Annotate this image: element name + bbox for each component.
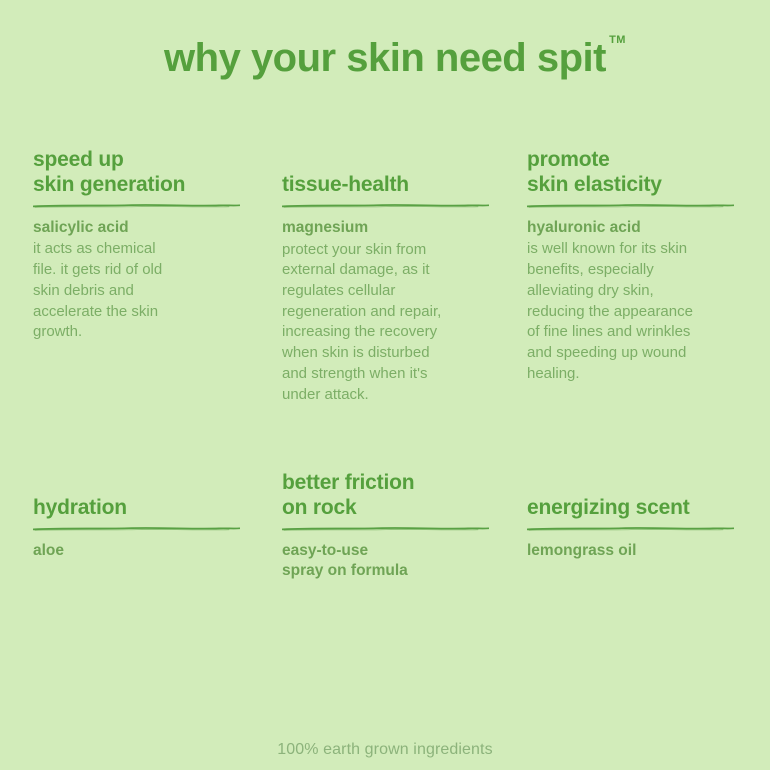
feature-block-energizing-scent: energizing scent lemongrass oil [527,496,749,563]
page-title-container: why your skin need spitTM [0,36,770,80]
brush-underline-icon [282,203,489,209]
feature-block-speed-up-skin-generation: speed up skin generation salicylic acid … [33,148,248,343]
feature-heading: hydration [33,496,248,521]
feature-description: it acts as chemical file. it gets rid of… [33,239,248,342]
feature-ingredient: hyaluronic acid [527,218,749,239]
feature-block-tissue-health: tissue-health magnesium protect your ski… [282,173,497,405]
feature-heading: better friction on rock [282,471,497,521]
trademark-symbol: TM [609,34,626,46]
feature-block-hydration: hydration aloe [33,496,248,563]
feature-ingredient: salicylic acid [33,218,248,239]
feature-ingredient: easy-to-use spray on formula [282,541,497,583]
feature-heading: speed up skin generation [33,148,248,198]
feature-ingredient: aloe [33,541,248,562]
feature-block-promote-skin-elasticity: promote skin elasticity hyaluronic acid … [527,148,749,384]
feature-heading: promote skin elasticity [527,148,749,198]
brush-underline-icon [282,526,489,532]
feature-ingredient: magnesium [282,218,497,239]
brush-underline-icon [527,203,734,209]
page-title-text: why your skin need spit [164,36,606,80]
feature-heading: energizing scent [527,496,749,521]
feature-heading: tissue-health [282,173,497,198]
feature-block-better-friction-on-rock: better friction on rock easy-to-use spra… [282,471,497,583]
brush-underline-icon [33,203,240,209]
feature-description: protect your skin from external damage, … [282,240,497,406]
feature-ingredient: lemongrass oil [527,541,749,562]
infographic-page: why your skin need spitTM speed up skin … [0,0,770,770]
feature-description: is well known for its skin benefits, esp… [527,239,749,384]
page-title: why your skin need spitTM [164,36,606,80]
brush-underline-icon [33,526,240,532]
brush-underline-icon [527,526,734,532]
footer-tagline: 100% earth grown ingredients [0,741,770,759]
